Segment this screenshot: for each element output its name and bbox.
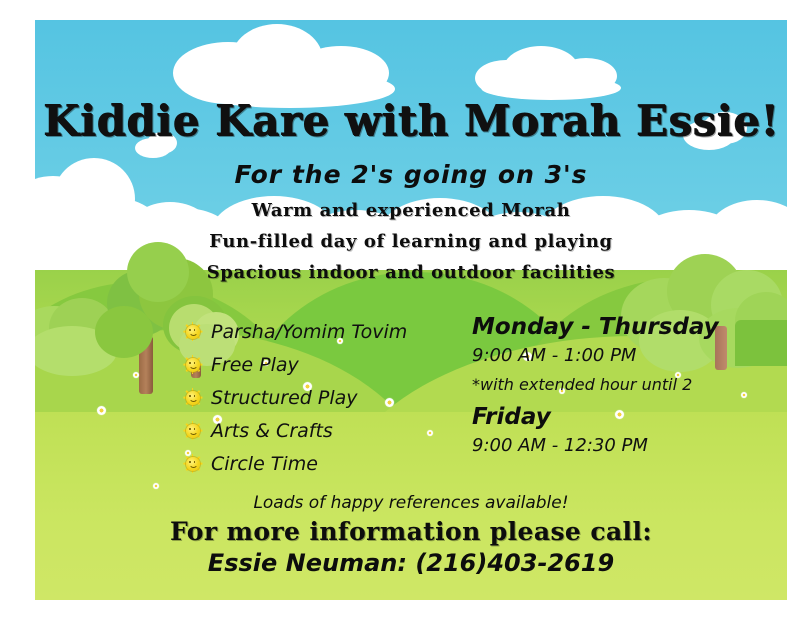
sun-smiley-icon [183, 388, 202, 407]
daisy-icon [97, 406, 106, 415]
schedule-days-2: Friday [472, 404, 772, 430]
daisy-icon [153, 483, 159, 489]
call-to-action: For more information please call: [35, 517, 787, 546]
activity-label: Parsha/Yomim Tovim [211, 321, 407, 343]
schedule-days-1: Monday - Thursday [472, 314, 772, 340]
list-item: Structured Play [183, 381, 443, 414]
list-item: Free Play [183, 348, 443, 381]
list-item: Circle Time [183, 447, 443, 480]
schedule-hours-1: 9:00 AM - 1:00 PM [472, 345, 772, 366]
sun-smiley-icon [183, 454, 202, 473]
schedule-note-1: *with extended hour until 2 [472, 375, 772, 394]
sun-smiley-icon [183, 355, 202, 374]
page-title: Kiddie Kare with Morah Essie! [35, 96, 787, 145]
sun-smiley-icon [183, 322, 202, 341]
activity-label: Arts & Crafts [211, 420, 333, 442]
schedule-hours-2: 9:00 AM - 12:30 PM [472, 435, 772, 456]
flyer-artwork: Kiddie Kare with Morah Essie! For the 2'… [35, 20, 787, 600]
activity-label: Free Play [211, 354, 299, 376]
flyer-page: Kiddie Kare with Morah Essie! For the 2'… [0, 0, 800, 618]
sun-smiley-icon [183, 421, 202, 440]
list-item: Parsha/Yomim Tovim [183, 315, 443, 348]
references-line: Loads of happy references available! [35, 493, 787, 513]
tree-canopy [95, 306, 153, 358]
activity-label: Structured Play [211, 387, 358, 409]
activities-list: Parsha/Yomim Tovim Free Play [183, 315, 443, 480]
feature-line-1: Warm and experienced Morah [35, 200, 787, 221]
feature-line-2: Fun-filled day of learning and playing [35, 231, 787, 252]
subtitle: For the 2's going on 3's [35, 160, 787, 189]
activity-label: Circle Time [211, 453, 318, 475]
contact-line: Essie Neuman: (216)403-2619 [35, 549, 787, 577]
list-item: Arts & Crafts [183, 414, 443, 447]
feature-line-3: Spacious indoor and outdoor facilities [35, 262, 787, 283]
schedule-block: Monday - Thursday 9:00 AM - 1:00 PM *wit… [472, 314, 772, 465]
daisy-icon [133, 372, 139, 378]
